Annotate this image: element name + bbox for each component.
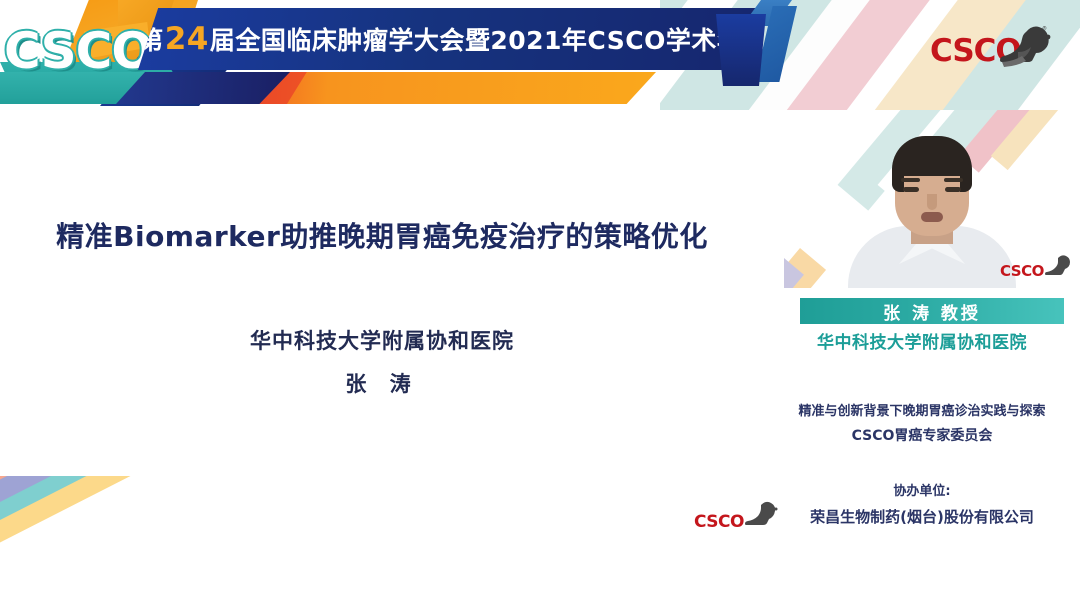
panel-speaker-affiliation: 华中科技大学附属协和医院 — [764, 328, 1080, 353]
banner-suffix: 届全国临床肿瘤学大会暨2021年CSCO学术年会 — [210, 26, 768, 55]
bottom-logo-wordmark: CSCO — [694, 514, 744, 531]
speaker-name-banner: 张 涛 教授 — [800, 298, 1064, 324]
portrait-eye-left — [903, 187, 919, 192]
conference-title-banner: 第24届全国临床肿瘤学大会暨2021年CSCO学术年会 — [138, 8, 768, 70]
svg-text:®: ® — [1042, 25, 1047, 32]
slide-speaker-name: 张 涛 — [0, 368, 764, 398]
banner-3d-box-front — [716, 14, 766, 86]
csco-lion-icon: ® — [996, 24, 1054, 74]
conference-title-text: 第24届全国临床肿瘤学大会暨2021年CSCO学术年会 — [138, 21, 768, 57]
slide-affiliation: 华中科技大学附属协和医院 — [0, 325, 764, 355]
csco-logo-red-header: CSCO ® — [930, 28, 1060, 80]
portrait-eyebrow-right — [944, 178, 963, 182]
presentation-slide-screenshot: CSCO 第24届全国临床肿瘤学大会暨2021年CSCO学术年会 CSCO — [0, 0, 1080, 606]
video-csco-watermark: CSCO — [1000, 256, 1074, 282]
speaker-info-panel: CSCO 张 涛 教授 华中科技大学附属协和医院 精准与创新背景下晚期胃癌诊治实… — [764, 110, 1080, 606]
panel-session-topic: 精准与创新背景下晚期胃癌诊治实践与探索 — [764, 400, 1080, 419]
speaker-portrait — [847, 138, 1017, 288]
speaker-video-feed[interactable]: CSCO — [784, 110, 1080, 288]
panel-coorganizer-label: 协办单位: — [764, 480, 1080, 499]
watermark-lion-icon — [1042, 254, 1074, 282]
slide-title: 精准Biomarker助推晚期胃癌免疫治疗的策略优化 — [0, 215, 764, 255]
portrait-nose — [927, 194, 937, 210]
csco-logo-bottom: CSCO — [694, 500, 784, 538]
portrait-eyebrow-left — [901, 178, 920, 182]
panel-committee-name: CSCO胃癌专家委员会 — [764, 425, 1080, 445]
bottom-left-decoration — [0, 476, 300, 606]
corner-stripe-teal — [0, 476, 214, 606]
portrait-mouth — [921, 212, 943, 222]
conference-header: CSCO 第24届全国临床肿瘤学大会暨2021年CSCO学术年会 CSCO — [0, 0, 1080, 110]
watermark-wordmark: CSCO — [1000, 264, 1044, 279]
banner-edition-number: 24 — [164, 21, 210, 57]
slide-content-area: 精准Biomarker助推晚期胃癌免疫治疗的策略优化 华中科技大学附属协和医院 … — [0, 110, 764, 606]
bottom-logo-lion-icon — [742, 500, 780, 534]
speaker-name-title: 张 涛 教授 — [883, 299, 981, 324]
panel-coorganizer-name: 荣昌生物制药(烟台)股份有限公司 — [764, 506, 1080, 527]
portrait-eye-right — [945, 187, 961, 192]
